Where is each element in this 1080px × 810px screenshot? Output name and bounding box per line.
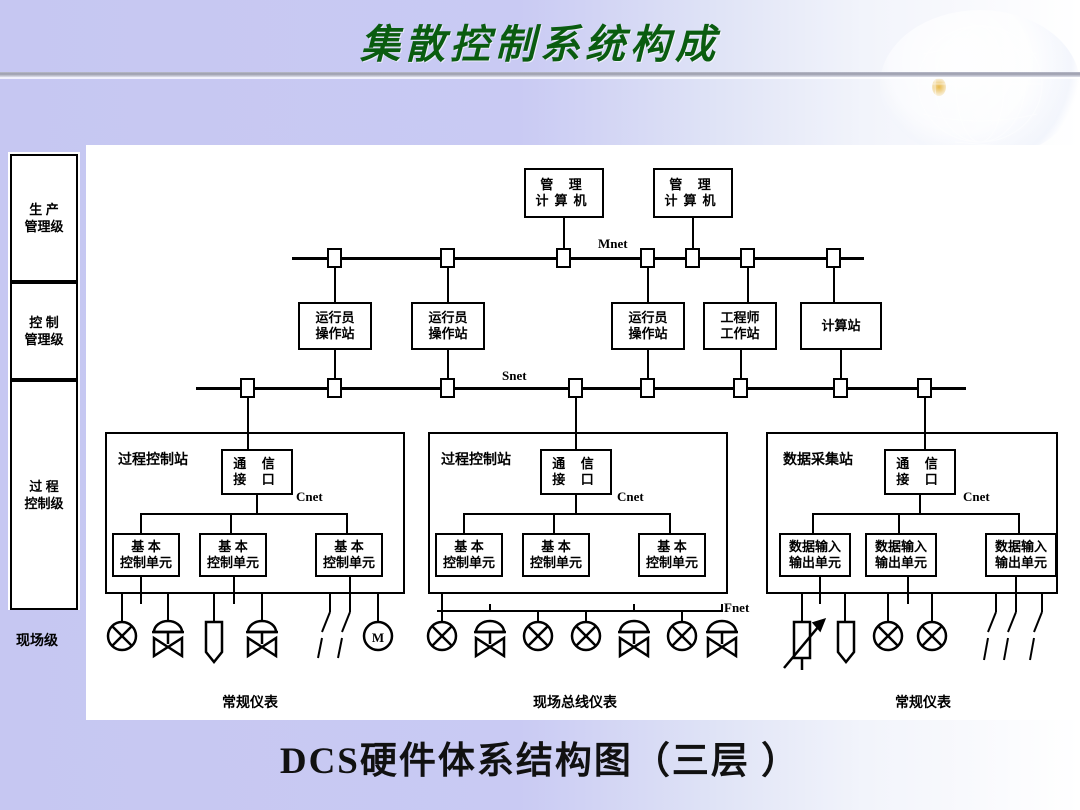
pcs2-cnet-label: Cnet [617, 489, 644, 505]
operator-station-3: 运行员 操作站 [611, 302, 685, 350]
unit-line1: 数据输入 [995, 539, 1047, 555]
das-title: 数据采集站 [783, 449, 853, 469]
das-cnet-bar [812, 513, 1020, 515]
unit-line1: 数据输入 [789, 539, 841, 555]
mnet-drop-4 [747, 268, 749, 303]
das-cnet-stem [919, 495, 921, 513]
station-line1: 工程师 [720, 310, 759, 326]
computing-station: 计算站 [800, 302, 882, 350]
snet-node-2 [327, 378, 342, 398]
mnet-drop-2 [447, 268, 449, 303]
comm-line1: 通 信 [896, 456, 944, 472]
pcs1-comm-interface: 通 信 接 口 [221, 449, 293, 495]
station-line2: 工作站 [720, 326, 759, 342]
pcs2-branch-3 [669, 513, 671, 533]
control-valve-icon [152, 621, 184, 656]
unit-line1: 基 本 [657, 539, 687, 555]
level-line1: 生 产 [29, 201, 59, 218]
control-valve-icon [474, 621, 506, 656]
unit-line1: 基 本 [131, 539, 161, 555]
mnet-drop-3 [647, 268, 649, 303]
level-line2: 管理级 [24, 218, 63, 235]
mc-line2: 计算机 [535, 193, 592, 209]
comm-line1: 通 信 [552, 456, 600, 472]
das-cnet-label: Cnet [963, 489, 990, 505]
wires-icon [984, 612, 1042, 660]
comm-line2: 接 口 [896, 472, 944, 488]
snet-node-5 [640, 378, 655, 398]
pcs1-cnet-stem [256, 495, 258, 513]
field-group-label-1: 常规仪表 [222, 692, 278, 712]
header-divider-highlight [0, 77, 1080, 79]
transmitter-icon [668, 622, 696, 650]
station-line1: 运行员 [628, 310, 667, 326]
unit-line1: 基 本 [334, 539, 364, 555]
level-line1: 过 程 [29, 478, 59, 495]
level-control-management: 控 制 管理级 [10, 282, 78, 380]
mnet-node-1 [327, 248, 342, 268]
pcs2-title: 过程控制站 [441, 449, 511, 469]
transmitter-icon [874, 622, 902, 650]
engineer-workstation: 工程师 工作站 [703, 302, 777, 350]
pcs1-cnet-label: Cnet [296, 489, 323, 505]
station-line2: 操作站 [428, 326, 467, 342]
snet-node-7 [833, 378, 848, 398]
variable-sensor-icon [784, 620, 824, 670]
transmitter-icon [108, 622, 136, 650]
transmitter-icon [572, 622, 600, 650]
comm-line1: 通 信 [233, 456, 281, 472]
pcs2-frame-top [428, 432, 728, 434]
transmitter-icon [428, 622, 456, 650]
control-valve-icon [618, 621, 650, 656]
station-line1: 计算站 [821, 318, 860, 334]
snet-node-6 [733, 378, 748, 398]
mnet-node-5 [685, 248, 700, 268]
motor-label: M [372, 630, 384, 645]
mnet-node-3 [556, 248, 571, 268]
mnet-drop-1 [334, 268, 336, 303]
level-production-management: 生 产 管理级 [10, 154, 78, 282]
thermowell-icon [206, 622, 222, 662]
wires-icon [318, 612, 350, 658]
pcs2-branch-2 [553, 513, 555, 533]
station-line1: 运行员 [428, 310, 467, 326]
page-title: 集散控制系统构成 [0, 12, 1080, 70]
level-line1: 控 制 [29, 314, 59, 331]
unit-line1: 基 本 [454, 539, 484, 555]
das-branch-2 [898, 513, 900, 533]
station-line2: 操作站 [315, 326, 354, 342]
mnet-node-4 [640, 248, 655, 268]
snet-node-1 [240, 378, 255, 398]
unit-line1: 数据输入 [875, 539, 927, 555]
unit-line1: 基 本 [218, 539, 248, 555]
pcs1-branch-1 [140, 513, 142, 533]
transmitter-icon [524, 622, 552, 650]
mnet-node-6 [740, 248, 755, 268]
management-computer-1: 管 理 计算机 [524, 168, 604, 218]
mc-line1: 管 理 [540, 177, 588, 193]
mnet-drop-5 [833, 268, 835, 303]
station-line1: 运行员 [315, 310, 354, 326]
control-valve-icon [706, 621, 738, 656]
mnet-node-2 [440, 248, 455, 268]
control-valve-icon [246, 621, 278, 656]
slide-root: 集散控制系统构成 生 产 管理级 控 制 管理级 过 程 控制级 现场级 管 理… [0, 0, 1080, 810]
station-line2: 操作站 [628, 326, 667, 342]
pcs1-branch-3 [346, 513, 348, 533]
mc-line1: 管 理 [669, 177, 717, 193]
snet-node-4 [568, 378, 583, 398]
comm-line2: 接 口 [233, 472, 281, 488]
mnet-label: Mnet [598, 236, 628, 252]
pcs2-cnet-stem [575, 495, 577, 513]
snet-label: Snet [502, 368, 527, 384]
unit-line1: 基 本 [541, 539, 571, 555]
das-branch-3 [1018, 513, 1020, 533]
pcs2-comm-interface: 通 信 接 口 [540, 449, 612, 495]
das-comm-interface: 通 信 接 口 [884, 449, 956, 495]
field-group-label-2: 现场总线仪表 [533, 692, 617, 712]
pcs1-branch-2 [230, 513, 232, 533]
snet-node-8 [917, 378, 932, 398]
pcs2-cnet-bar [463, 513, 671, 515]
level-line2: 控制级 [24, 495, 63, 512]
mnet-node-7 [826, 248, 841, 268]
thermowell-icon [838, 622, 854, 662]
page-caption: DCS硬件体系结构图（三层 ） [0, 730, 1080, 784]
das-frame-top [766, 432, 1058, 434]
snet-node-3 [440, 378, 455, 398]
level-line2: 管理级 [24, 331, 63, 348]
das-branch-1 [812, 513, 814, 533]
operator-station-1: 运行员 操作站 [298, 302, 372, 350]
pcs2-branch-1 [463, 513, 465, 533]
management-computer-2: 管 理 计算机 [653, 168, 733, 218]
pcs1-title: 过程控制站 [118, 449, 188, 469]
pcs1-cnet-bar [140, 513, 348, 515]
mc-line2: 计算机 [664, 193, 721, 209]
pcs1-frame-top [105, 432, 405, 434]
field-devices-layer: M [0, 560, 1080, 690]
comm-line2: 接 口 [552, 472, 600, 488]
transmitter-icon [918, 622, 946, 650]
field-group-label-3: 常规仪表 [895, 692, 951, 712]
mnet-bus [292, 257, 864, 260]
operator-station-2: 运行员 操作站 [411, 302, 485, 350]
